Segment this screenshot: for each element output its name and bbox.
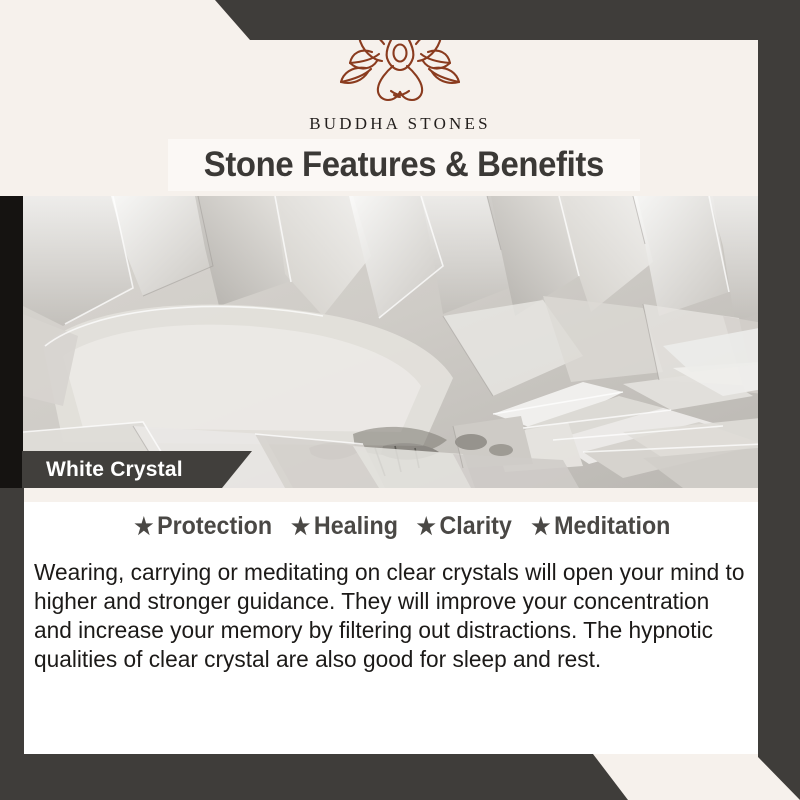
brand-name: BUDDHA STONES [0,114,800,134]
stone-name: White Crystal [22,458,183,482]
crystal-illustration [23,196,780,488]
page-title: Stone Features & Benefits [204,145,604,185]
benefit-item-clarity: ★Clarity [416,512,511,541]
content-top-spacer [0,488,800,502]
white-crystal-cluster-photo [23,196,780,488]
benefits-list: ★Protection ★Healing ★Clarity ★Meditatio… [24,512,780,541]
stone-name-banner: White Crystal [22,451,252,488]
benefit-item-healing: ★Healing [291,512,398,541]
benefit-label: Protection [157,512,272,540]
star-icon: ★ [416,513,435,539]
benefit-label: Healing [314,512,398,540]
content-section: ★Protection ★Healing ★Clarity ★Meditatio… [24,502,780,754]
left-frame-accent [0,488,24,778]
left-photo-border [0,196,23,488]
star-icon: ★ [531,513,550,539]
star-icon: ★ [291,513,310,539]
benefit-item-protection: ★Protection [134,512,272,541]
right-frame-accent [758,0,800,800]
benefit-label: Clarity [439,512,511,540]
page-title-bar: Stone Features & Benefits [168,139,640,191]
stone-description: Wearing, carrying or meditating on clear… [34,558,750,674]
stone-info-poster: BUDDHA STONES Stone Features & Benefits [0,0,800,800]
benefit-label: Meditation [554,512,670,540]
star-icon: ★ [134,513,153,539]
bottom-frame-accent [0,754,800,800]
benefit-item-meditation: ★Meditation [531,512,670,541]
